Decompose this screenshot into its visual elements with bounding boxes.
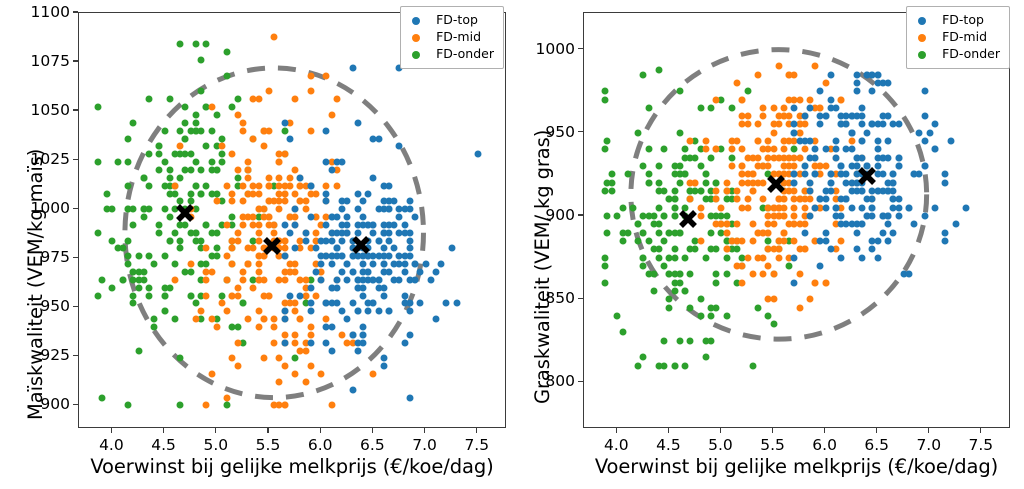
scatter-point <box>905 271 912 278</box>
scatter-point <box>739 204 746 211</box>
scatter-point <box>645 271 652 278</box>
scatter-point <box>318 276 325 283</box>
scatter-point <box>328 284 335 291</box>
scatter-point <box>723 179 730 186</box>
x-tick-mark <box>111 428 112 433</box>
scatter-point <box>671 188 678 195</box>
scatter-point <box>734 262 741 269</box>
scatter-point <box>601 88 608 95</box>
scatter-point <box>292 221 299 228</box>
scatter-point <box>161 292 168 299</box>
scatter-point <box>297 276 304 283</box>
scatter-point <box>109 237 116 244</box>
scatter-point <box>250 135 257 142</box>
scatter-point <box>655 204 662 211</box>
legend-swatch-fd-mid <box>918 34 926 42</box>
scatter-point <box>843 179 850 186</box>
scatter-point <box>125 402 132 409</box>
scatter-point <box>276 206 283 213</box>
scatter-point <box>859 204 866 211</box>
scatter-point <box>323 198 330 205</box>
scatter-point <box>292 214 299 221</box>
scatter-point <box>354 229 361 236</box>
scatter-point <box>271 339 278 346</box>
scatter-point <box>161 159 168 166</box>
scatter-point <box>187 151 194 158</box>
scatter-point <box>151 316 158 323</box>
scatter-point <box>822 188 829 195</box>
scatter-point <box>229 261 236 268</box>
legend-item-fd-top: FD-top <box>408 12 494 29</box>
scatter-point <box>890 121 897 128</box>
scatter-point <box>822 279 829 286</box>
scatter-point <box>853 246 860 253</box>
scatter-point <box>292 339 299 346</box>
scatter-point <box>697 104 704 111</box>
legend-right: FD-top FD-mid FD-onder <box>906 6 1010 69</box>
scatter-point <box>687 188 694 195</box>
scatter-point <box>666 304 673 311</box>
scatter-point <box>292 245 299 252</box>
scatter-point <box>219 151 226 158</box>
scatter-point <box>219 159 226 166</box>
scatter-point <box>349 253 356 260</box>
scatter-point <box>203 221 210 228</box>
scatter-point <box>879 154 886 161</box>
scatter-point <box>380 355 387 362</box>
scatter-point <box>323 159 330 166</box>
scatter-point <box>239 214 246 221</box>
x-tick-label: 5.5 <box>256 436 281 454</box>
scatter-point <box>292 269 299 276</box>
scatter-point <box>734 79 741 86</box>
scatter-point <box>666 271 673 278</box>
scatter-point <box>775 63 782 70</box>
scatter-point <box>859 104 866 111</box>
scatter-point <box>276 151 283 158</box>
scatter-point <box>926 129 933 136</box>
scatter-point <box>848 138 855 145</box>
scatter-point <box>817 262 824 269</box>
scatter-point <box>754 121 761 128</box>
y-tick-label: 1075 <box>12 52 70 70</box>
scatter-point <box>931 146 938 153</box>
scatter-point <box>276 378 283 385</box>
x-tick-mark <box>720 428 721 433</box>
scatter-point <box>250 96 257 103</box>
scatter-point <box>833 138 840 145</box>
scatter-point <box>234 363 241 370</box>
x-tick-mark <box>320 428 321 433</box>
scatter-point <box>396 206 403 213</box>
scatter-point <box>885 188 892 195</box>
scatter-point <box>109 206 116 213</box>
scatter-point <box>333 182 340 189</box>
scatter-point <box>234 112 241 119</box>
scatter-point <box>603 138 610 145</box>
scatter-point <box>890 171 897 178</box>
scatter-point <box>239 276 246 283</box>
scatter-point <box>172 316 179 323</box>
scatter-point <box>801 146 808 153</box>
scatter-point <box>151 261 158 268</box>
scatter-point <box>359 198 366 205</box>
scatter-point <box>645 237 652 244</box>
scatter-point <box>365 300 372 307</box>
scatter-point <box>375 237 382 244</box>
x-tick-label: 6.0 <box>308 436 333 454</box>
scatter-point <box>744 88 751 95</box>
legend-label-fd-mid: FD-mid <box>436 31 481 44</box>
scatter-point <box>911 221 918 228</box>
scatter-point <box>380 198 387 205</box>
scatter-point <box>676 179 683 186</box>
scatter-point <box>760 196 767 203</box>
scatter-point <box>135 253 142 260</box>
scatter-point <box>739 237 746 244</box>
scatter-point <box>723 229 730 236</box>
scatter-point <box>286 229 293 236</box>
scatter-point <box>323 72 330 79</box>
scatter-point <box>192 300 199 307</box>
x-tick-label: 6.5 <box>864 436 889 454</box>
scatter-point <box>609 179 616 186</box>
scatter-point <box>130 300 137 307</box>
scatter-point <box>166 214 173 221</box>
scatter-point <box>375 206 382 213</box>
scatter-point <box>780 146 787 153</box>
scatter-point <box>869 213 876 220</box>
scatter-point <box>655 66 662 73</box>
scatter-point <box>702 171 709 178</box>
scatter-point <box>224 308 231 315</box>
scatter-point <box>349 64 356 71</box>
scatter-point <box>661 146 668 153</box>
scatter-point <box>312 269 319 276</box>
scatter-point <box>109 284 116 291</box>
scatter-point <box>307 363 314 370</box>
scatter-point <box>931 204 938 211</box>
scatter-point <box>859 221 866 228</box>
scatter-point <box>687 337 694 344</box>
y-tick-label: 1000 <box>517 40 575 58</box>
scatter-point <box>838 171 845 178</box>
scatter-point <box>130 221 137 228</box>
scatter-point <box>448 245 455 252</box>
scatter-point <box>734 138 741 145</box>
scatter-point <box>744 196 751 203</box>
scatter-point <box>161 182 168 189</box>
scatter-point <box>401 261 408 268</box>
scatter-point <box>401 300 408 307</box>
scatter-point <box>406 206 413 213</box>
scatter-point <box>307 88 314 95</box>
scatter-point <box>661 188 668 195</box>
scatter-point <box>770 154 777 161</box>
scatter-point <box>125 237 132 244</box>
scatter-point <box>916 129 923 136</box>
x-tick-mark <box>824 428 825 433</box>
scatter-point <box>318 261 325 268</box>
panel-maiskwaliteit: Maïskwaliteit (VEM/kg maïs) Voerwinst bi… <box>0 0 512 489</box>
scatter-point <box>869 246 876 253</box>
scatter-point <box>713 279 720 286</box>
scatter-point <box>609 171 616 178</box>
scatter-point <box>911 171 918 178</box>
scatter-point <box>297 174 304 181</box>
scatter-point <box>859 138 866 145</box>
scatter-point <box>749 362 756 369</box>
scatter-point <box>676 337 683 344</box>
scatter-point <box>942 179 949 186</box>
scatter-point <box>640 163 647 170</box>
scatter-point <box>942 229 949 236</box>
scatter-point <box>838 96 845 103</box>
scatter-point <box>801 229 808 236</box>
scatter-point <box>401 269 408 276</box>
scatter-point <box>624 171 631 178</box>
scatter-point <box>140 174 147 181</box>
scatter-point <box>796 96 803 103</box>
scatter-point <box>161 308 168 315</box>
scatter-point <box>885 237 892 244</box>
scatter-point <box>838 254 845 261</box>
scatter-point <box>359 276 366 283</box>
scatter-point <box>869 237 876 244</box>
scatter-point <box>739 113 746 120</box>
scatter-point <box>151 323 158 330</box>
scatter-point <box>208 104 215 111</box>
y-tick-label: 850 <box>517 289 575 307</box>
scatter-point <box>723 221 730 228</box>
scatter-point <box>864 71 871 78</box>
scatter-point <box>406 245 413 252</box>
scatter-point <box>386 237 393 244</box>
scatter-point <box>640 254 647 261</box>
scatter-point <box>885 138 892 145</box>
scatter-point <box>601 146 608 153</box>
scatter-point <box>386 253 393 260</box>
scatter-point <box>349 331 356 338</box>
scatter-point <box>853 179 860 186</box>
scatter-point <box>734 246 741 253</box>
scatter-point <box>349 386 356 393</box>
scatter-point <box>671 196 678 203</box>
scatter-point <box>339 253 346 260</box>
legend-label-fd-top: FD-top <box>942 14 984 27</box>
legend-swatch-fd-onder <box>918 51 926 59</box>
scatter-point <box>370 371 377 378</box>
scatter-point <box>245 159 252 166</box>
scatter-point <box>890 204 897 211</box>
scatter-point <box>655 362 662 369</box>
scatter-point <box>645 104 652 111</box>
scatter-point <box>635 362 642 369</box>
scatter-point <box>791 188 798 195</box>
scatter-point <box>796 246 803 253</box>
scatter-point <box>671 229 678 236</box>
x-tick-mark <box>424 428 425 433</box>
scatter-point <box>895 163 902 170</box>
scatter-point <box>682 171 689 178</box>
scatter-point <box>234 339 241 346</box>
scatter-point <box>640 71 647 78</box>
scatter-point <box>198 166 205 173</box>
scatter-point <box>869 204 876 211</box>
scatter-point <box>208 316 215 323</box>
scatter-point <box>234 237 241 244</box>
scatter-point <box>713 146 720 153</box>
scatter-point <box>812 171 819 178</box>
scatter-point <box>859 121 866 128</box>
scatter-point <box>869 121 876 128</box>
scatter-point <box>671 213 678 220</box>
scatter-point <box>359 261 366 268</box>
scatter-point <box>806 104 813 111</box>
scatter-point <box>874 146 881 153</box>
scatter-point <box>130 269 137 276</box>
scatter-point <box>130 276 137 283</box>
scatter-point <box>843 196 850 203</box>
scatter-point <box>749 221 756 228</box>
scatter-point <box>203 182 210 189</box>
scatter-point <box>156 221 163 228</box>
scatter-point <box>796 196 803 203</box>
scatter-point <box>192 119 199 126</box>
scatter-point <box>713 188 720 195</box>
scatter-point <box>224 221 231 228</box>
scatter-point <box>671 362 678 369</box>
scatter-point <box>947 138 954 145</box>
scatter-point <box>874 138 881 145</box>
scatter-point <box>276 245 283 252</box>
scatter-point <box>302 237 309 244</box>
scatter-point <box>739 163 746 170</box>
scatter-point <box>161 253 168 260</box>
x-tick-mark <box>163 428 164 433</box>
scatter-point <box>245 190 252 197</box>
scatter-point <box>682 204 689 211</box>
scatter-point <box>890 229 897 236</box>
scatter-point <box>822 79 829 86</box>
scatter-point <box>728 237 735 244</box>
scatter-point <box>843 146 850 153</box>
scatter-point <box>879 229 886 236</box>
scatter-point <box>879 121 886 128</box>
scatter-point <box>328 112 335 119</box>
scatter-point <box>812 204 819 211</box>
scatter-point <box>156 166 163 173</box>
scatter-point <box>791 154 798 161</box>
scatter-point <box>780 138 787 145</box>
scatter-point <box>156 229 163 236</box>
scatter-point <box>156 143 163 150</box>
x-tick-mark <box>372 428 373 433</box>
scatter-point <box>219 135 226 142</box>
scatter-point <box>307 339 314 346</box>
scatter-point <box>213 245 220 252</box>
scatter-point <box>276 276 283 283</box>
scatter-point <box>286 135 293 142</box>
scatter-point <box>718 204 725 211</box>
scatter-point <box>245 166 252 173</box>
scatter-point <box>853 88 860 95</box>
scatter-point <box>838 163 845 170</box>
scatter-point <box>728 163 735 170</box>
scatter-point <box>213 229 220 236</box>
y-tick-label: 1050 <box>12 101 70 119</box>
scatter-point <box>166 174 173 181</box>
scatter-point <box>333 96 340 103</box>
scatter-point <box>276 159 283 166</box>
scatter-point <box>344 261 351 268</box>
scatter-point <box>114 159 121 166</box>
scatter-point <box>822 113 829 120</box>
scatter-point <box>255 276 262 283</box>
scatter-point <box>229 214 236 221</box>
scatter-point <box>245 261 252 268</box>
scatter-point <box>827 96 834 103</box>
scatter-point <box>359 214 366 221</box>
scatter-point <box>848 204 855 211</box>
scatter-point <box>276 182 283 189</box>
scatter-point <box>323 237 330 244</box>
scatter-point <box>229 245 236 252</box>
y-tick-label: 1100 <box>12 3 70 21</box>
scatter-point <box>354 284 361 291</box>
scatter-point <box>265 221 272 228</box>
scatter-point <box>255 323 262 330</box>
scatter-point <box>145 151 152 158</box>
scatter-point <box>166 190 173 197</box>
y-axis-label-right: Graskwaliteit (VEM/ kg gras) <box>531 130 554 404</box>
scatter-point <box>474 151 481 158</box>
scatter-point <box>172 206 179 213</box>
scatter-point <box>177 151 184 158</box>
scatter-point <box>791 204 798 211</box>
scatter-point <box>260 143 267 150</box>
scatter-point <box>417 300 424 307</box>
scatter-point <box>791 237 798 244</box>
scatter-point <box>812 146 819 153</box>
legend-label-fd-onder: FD-onder <box>942 48 1000 61</box>
scatter-point <box>697 296 704 303</box>
scatter-point <box>271 33 278 40</box>
scatter-point <box>192 237 199 244</box>
scatter-point <box>806 154 813 161</box>
scatter-point <box>682 146 689 153</box>
scatter-point <box>177 245 184 252</box>
scatter-point <box>661 337 668 344</box>
scatter-point <box>708 104 715 111</box>
scatter-point <box>433 269 440 276</box>
scatter-point <box>765 229 772 236</box>
scatter-point <box>874 171 881 178</box>
scatter-point <box>838 121 845 128</box>
scatter-point <box>344 316 351 323</box>
scatter-point <box>697 312 704 319</box>
scatter-point <box>692 154 699 161</box>
scatter-point <box>786 71 793 78</box>
scatter-point <box>203 276 210 283</box>
scatter-point <box>780 229 787 236</box>
scatter-point <box>307 300 314 307</box>
scatter-point <box>765 221 772 228</box>
y-tick-label: 925 <box>12 346 70 364</box>
scatter-point <box>412 214 419 221</box>
scatter-point <box>601 262 608 269</box>
scatter-point <box>655 179 662 186</box>
